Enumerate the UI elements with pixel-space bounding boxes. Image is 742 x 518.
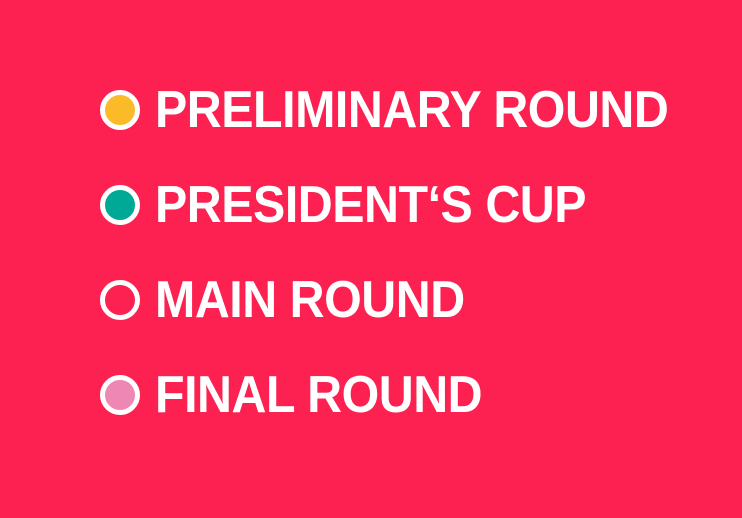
legend-item-label: MAIN ROUND <box>155 280 465 320</box>
legend-item-label: PRELIMINARY ROUND <box>155 90 668 130</box>
legend-item-preliminary-round[interactable]: PRELIMINARY ROUND <box>100 90 707 130</box>
legend-item-main-round[interactable]: MAIN ROUND <box>100 280 707 320</box>
legend-item-final-round[interactable]: FINAL ROUND <box>100 375 707 415</box>
filled-circle-icon <box>100 185 140 225</box>
legend-item-presidents-cup[interactable]: PRESIDENT‘S CUP <box>100 185 707 225</box>
legend-item-label: PRESIDENT‘S CUP <box>155 185 586 225</box>
legend-list: PRELIMINARY ROUND PRESIDENT‘S CUP MAIN R… <box>100 90 707 415</box>
filled-circle-icon <box>100 375 140 415</box>
legend-item-label: FINAL ROUND <box>155 375 482 415</box>
legend-panel: PRELIMINARY ROUND PRESIDENT‘S CUP MAIN R… <box>0 0 742 518</box>
hollow-circle-icon <box>100 280 140 320</box>
filled-circle-icon <box>100 90 140 130</box>
